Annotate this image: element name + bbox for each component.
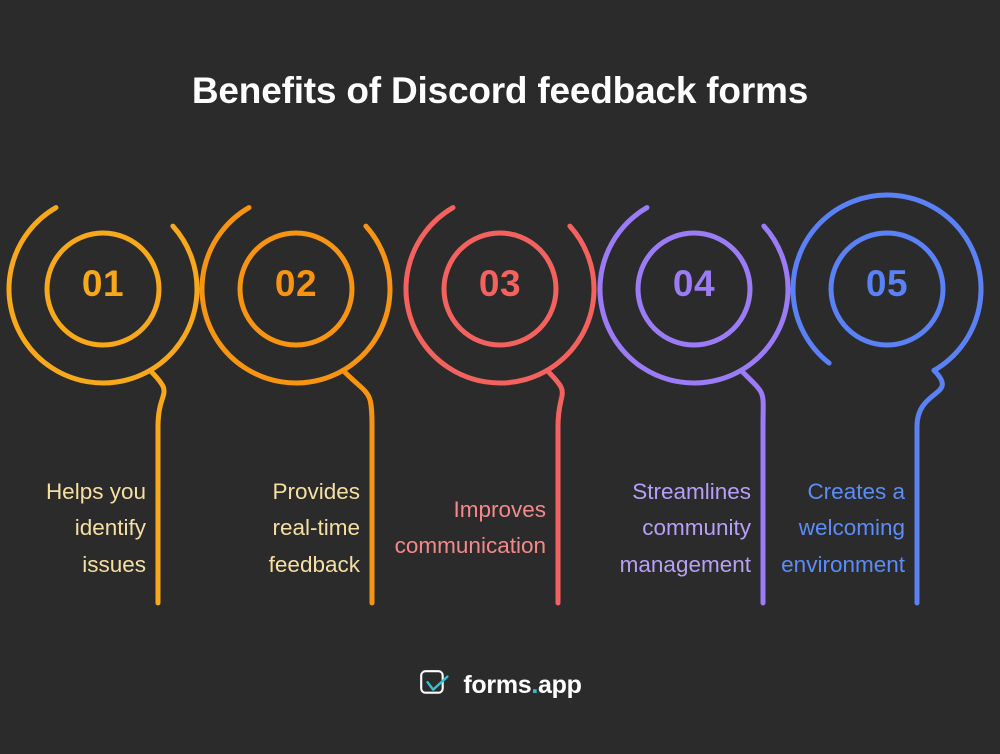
step-number-01: 01 [43,263,163,305]
caption-line: Creates a [675,474,905,510]
caption-line: welcoming [675,510,905,546]
caption-line: identify [0,510,146,546]
caption-line: issues [0,547,146,583]
brand-wordmark: forms.app [463,671,581,700]
brand-last: app [538,671,582,700]
caption-01: Helps youidentifyissues [0,474,146,583]
forms-app-logo-icon [418,668,452,702]
caption-line: communication [316,528,546,564]
step-number-04: 04 [634,263,754,305]
caption-line: environment [675,547,905,583]
diagram-graphics [0,0,1000,754]
brand-dot: . [531,671,538,700]
caption-05: Creates awelcomingenvironment [675,474,905,583]
brand-first: forms [463,671,531,700]
caption-line: Improves [316,492,546,528]
connector-tail-05 [917,370,942,603]
infographic-canvas: Benefits of Discord feedback forms 01020… [0,0,1000,754]
step-number-05: 05 [827,263,947,305]
step-number-03: 03 [440,263,560,305]
caption-03: Improvescommunication [316,492,546,565]
brand-logo[interactable]: forms.app [0,668,1000,702]
caption-line: Helps you [0,474,146,510]
step-number-02: 02 [236,263,356,305]
